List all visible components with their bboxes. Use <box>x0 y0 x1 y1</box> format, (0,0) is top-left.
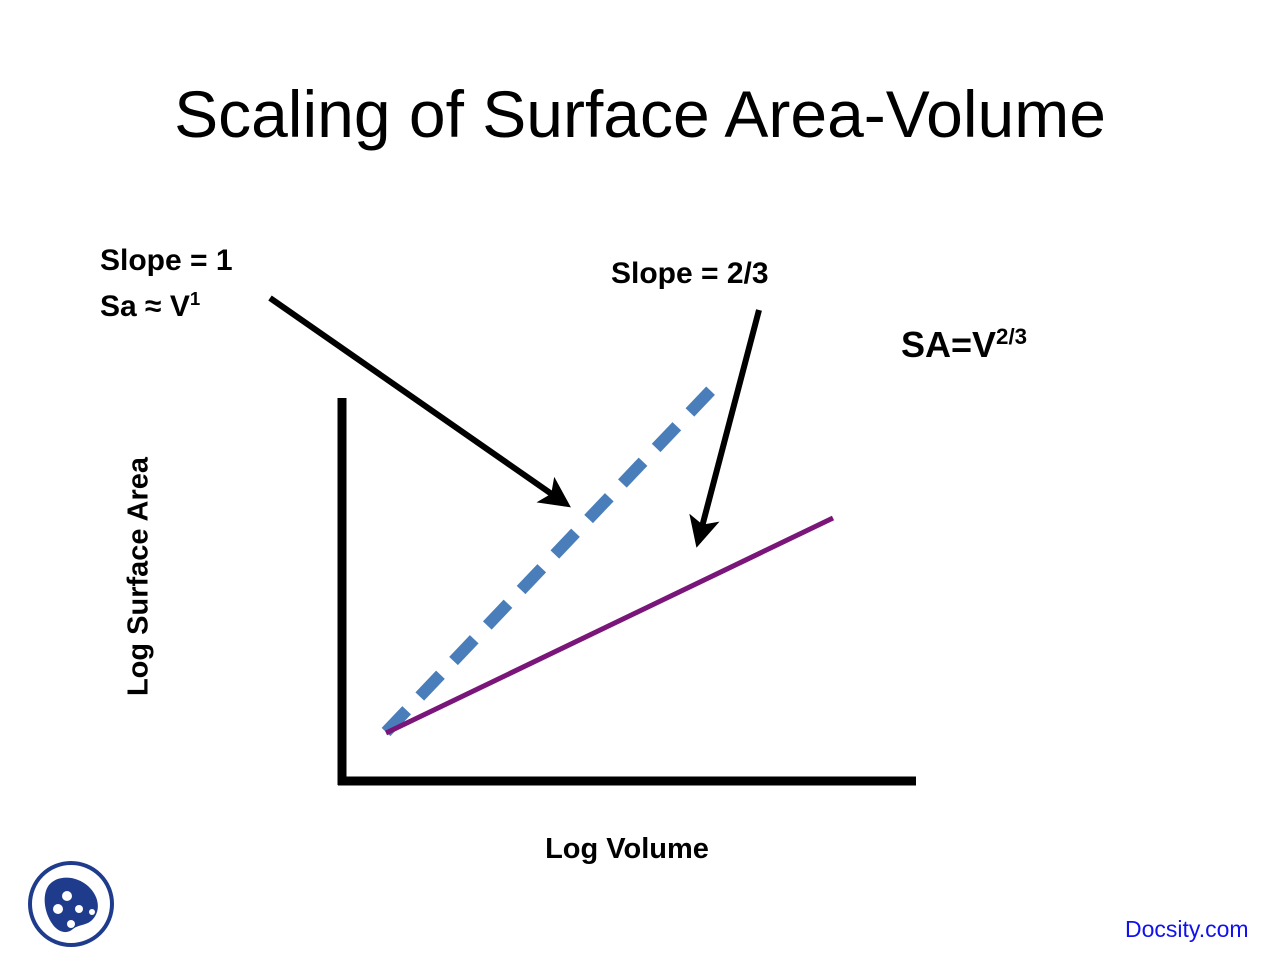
chart-plot-area <box>0 0 1280 960</box>
annotation-slope-2-3-label: Slope = 2/3 <box>611 255 769 293</box>
x-axis-label: Log Volume <box>338 833 916 866</box>
series-line-slope-1 <box>386 385 716 732</box>
y-axis-label: Log Surface Area <box>123 427 156 727</box>
annotation-slope-1-equation: Sa ≈ V1 <box>100 288 200 326</box>
sa-formula-base: SA=V <box>901 324 996 365</box>
docsity-watermark: Docsity.com <box>1125 916 1249 943</box>
slope-1-equation-exponent: 1 <box>190 288 200 309</box>
annotation-slope-1-label: Slope = 1 <box>100 242 233 280</box>
slope-1-equation-base: Sa ≈ V <box>100 290 190 323</box>
series-line-slope-2-3 <box>386 518 833 733</box>
slide-canvas: Scaling of Surface Area-Volume Slope = 1… <box>0 0 1280 960</box>
annotation-sa-formula: SA=V2/3 <box>901 322 1027 367</box>
docsity-logo-icon <box>25 858 117 950</box>
sa-formula-exponent: 2/3 <box>996 324 1027 349</box>
annotation-arrow-slope-2-3 <box>698 310 759 542</box>
annotation-arrow-slope-1 <box>270 298 566 504</box>
